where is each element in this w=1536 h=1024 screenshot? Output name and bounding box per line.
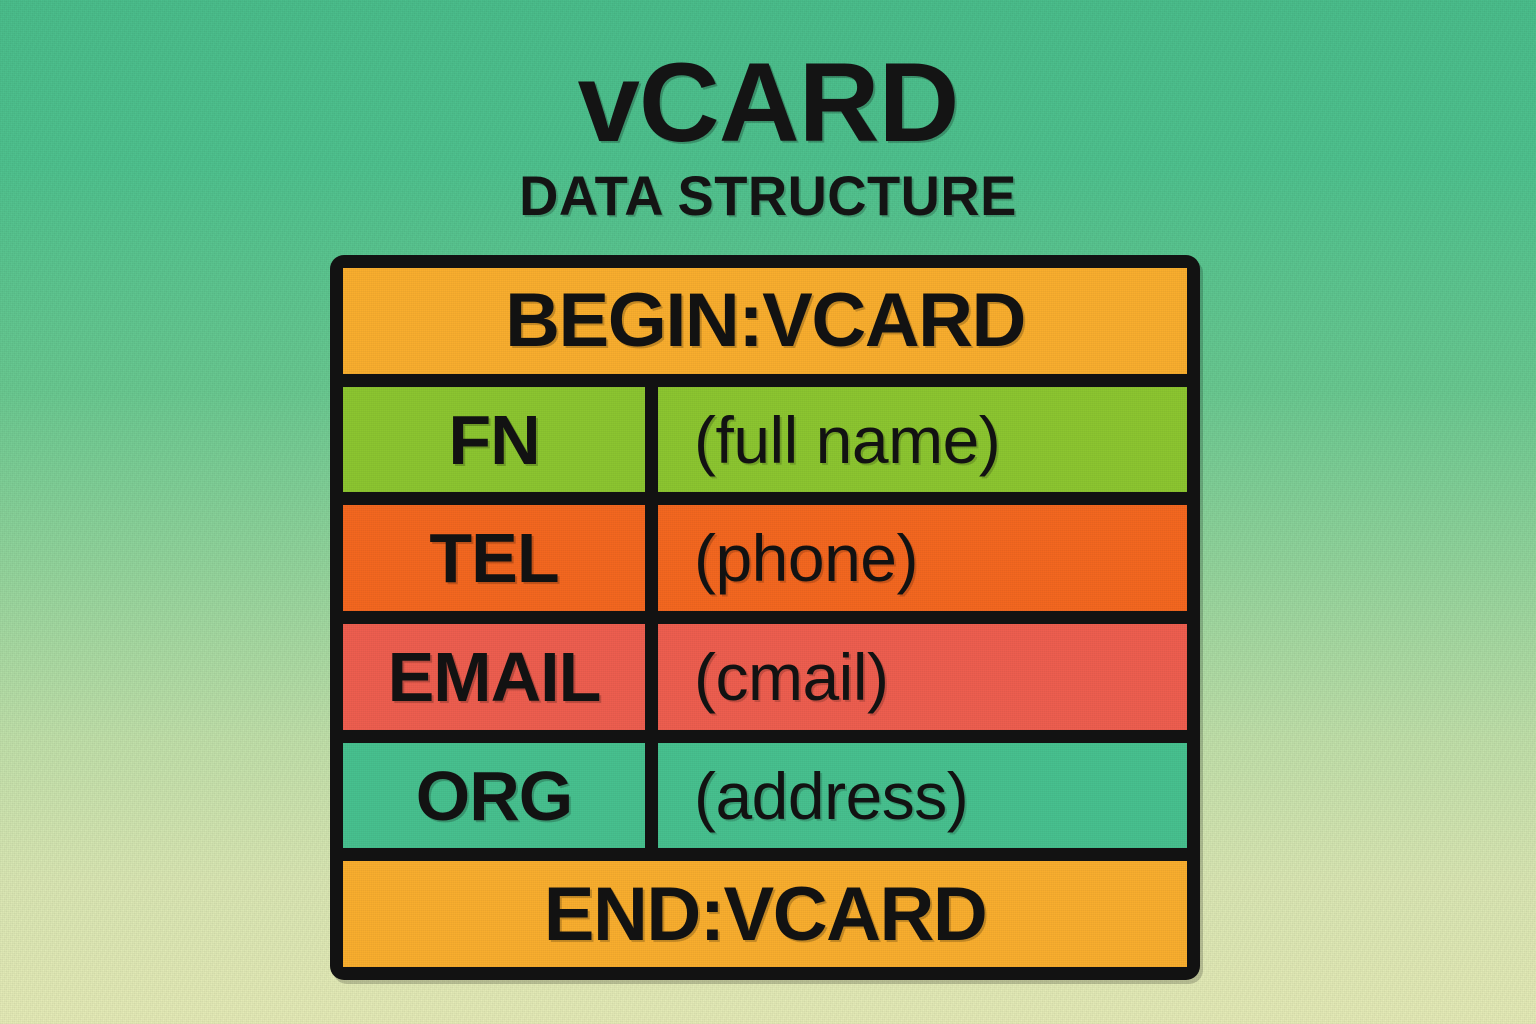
org-value-label: (address) bbox=[694, 758, 968, 834]
heading-block: vCARD DATA STRUCTURE bbox=[0, 46, 1536, 224]
begin-vcard-label: BEGIN:VCARD bbox=[505, 277, 1025, 364]
org-key-label: ORG bbox=[416, 756, 572, 836]
cell-end-vcard: END:VCARD bbox=[343, 861, 1187, 967]
table-row-end-vcard: END:VCARD bbox=[343, 861, 1187, 967]
table-row-org: ORG (address) bbox=[343, 743, 1187, 849]
table-row-email: EMAIL (cmail) bbox=[343, 624, 1187, 730]
tel-value-label: (phone) bbox=[694, 520, 918, 596]
page-subtitle: DATA STRUCTURE bbox=[23, 168, 1513, 224]
table-row-tel: TEL (phone) bbox=[343, 505, 1187, 611]
poster-stage: vCARD DATA STRUCTURE BEGIN:VCARD FN (ful… bbox=[0, 0, 1536, 1024]
cell-key-email: EMAIL bbox=[343, 624, 645, 730]
table-row-begin-vcard: BEGIN:VCARD bbox=[343, 268, 1187, 374]
cell-key-tel: TEL bbox=[343, 505, 645, 611]
fn-key-label: FN bbox=[448, 400, 539, 480]
fn-value-label: (full name) bbox=[694, 402, 1000, 478]
table-row-fn: FN (full name) bbox=[343, 387, 1187, 493]
cell-value-fn: (full name) bbox=[658, 387, 1187, 493]
cell-value-org: (address) bbox=[658, 743, 1187, 849]
cell-value-tel: (phone) bbox=[658, 505, 1187, 611]
cell-key-org: ORG bbox=[343, 743, 645, 849]
cell-value-email: (cmail) bbox=[658, 624, 1187, 730]
tel-key-label: TEL bbox=[429, 518, 558, 598]
email-value-label: (cmail) bbox=[694, 639, 888, 715]
email-key-label: EMAIL bbox=[388, 637, 601, 717]
cell-key-fn: FN bbox=[343, 387, 645, 493]
end-vcard-label: END:VCARD bbox=[544, 871, 987, 958]
cell-begin-vcard: BEGIN:VCARD bbox=[343, 268, 1187, 374]
page-title: vCARD bbox=[0, 46, 1536, 160]
vcard-structure-table: BEGIN:VCARD FN (full name) TEL (phone) bbox=[330, 255, 1200, 980]
